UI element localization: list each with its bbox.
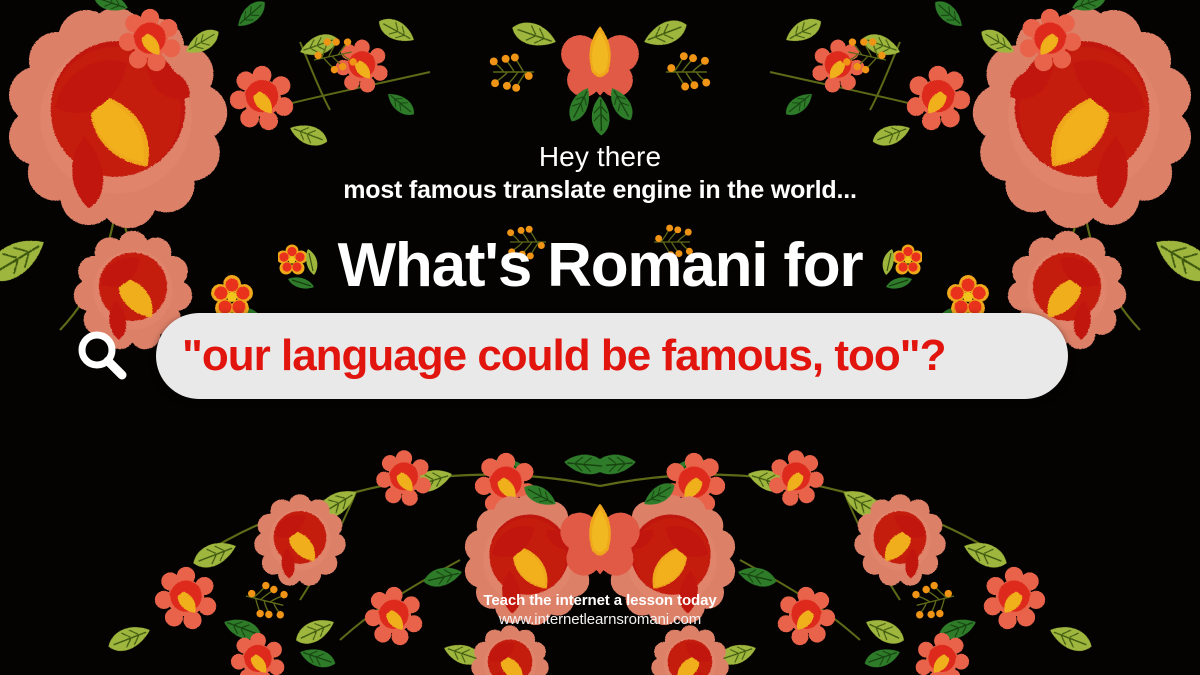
flower-ornament-right-icon bbox=[876, 239, 922, 293]
subhead-text: most famous translate engine in the worl… bbox=[343, 176, 857, 205]
poster-content: Hey there most famous translate engine i… bbox=[0, 0, 1200, 675]
footer-website[interactable]: www.internetlearnsromani.com bbox=[0, 611, 1200, 628]
flower-ornament-left-icon bbox=[278, 239, 324, 293]
footer: Teach the internet a lesson today www.in… bbox=[0, 592, 1200, 628]
search-input[interactable]: "our language could be famous, too"? bbox=[156, 313, 1068, 399]
kicker-text: Hey there bbox=[539, 142, 661, 172]
footer-tagline: Teach the internet a lesson today bbox=[0, 592, 1200, 609]
search-query-text: "our language could be famous, too"? bbox=[182, 334, 946, 378]
search-row: "our language could be famous, too"? bbox=[0, 313, 1200, 399]
page-title: What's Romani for bbox=[338, 235, 863, 297]
title-row: What's Romani for bbox=[278, 235, 923, 297]
search-icon[interactable] bbox=[72, 325, 134, 387]
poster-canvas: Hey there most famous translate engine i… bbox=[0, 0, 1200, 675]
